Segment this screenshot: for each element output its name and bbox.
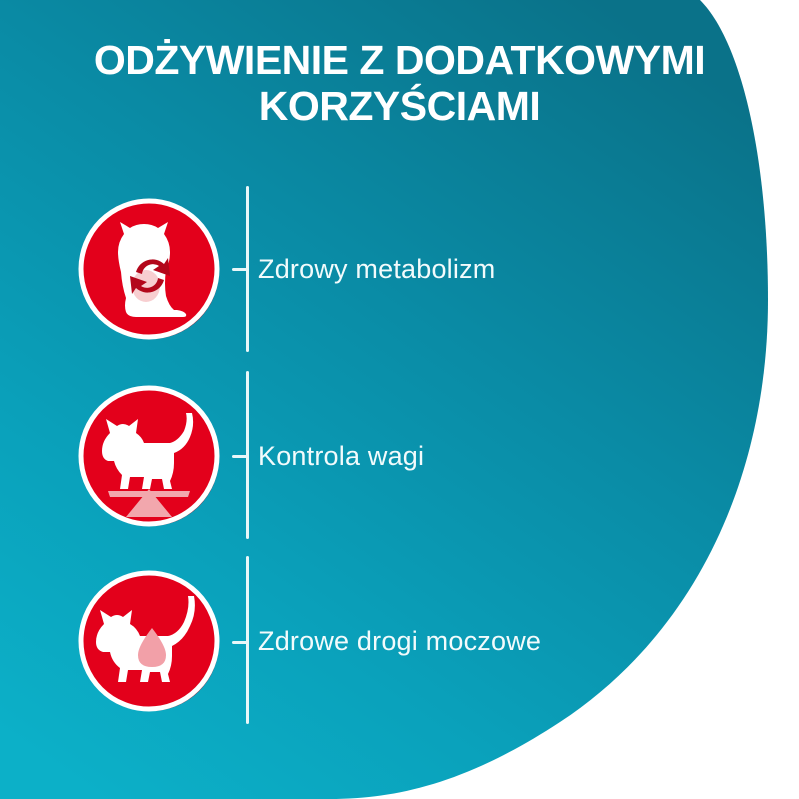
benefits-infographic: ODŻYWIENIE Z DODATKOWYMI KORZYŚCIAMI <box>0 0 799 799</box>
benefit-row-weight-control: Kontrola wagi <box>0 381 799 531</box>
cat-walking-balance-scale-icon <box>74 381 224 531</box>
benefit-label-healthy-metabolism: Zdrowy metabolizm <box>258 254 495 285</box>
benefit-row-healthy-urinary-tract: Zdrowe drogi moczowe <box>0 566 799 716</box>
page-title: ODŻYWIENIE Z DODATKOWYMI KORZYŚCIAMI <box>0 38 799 130</box>
benefit-label-weight-control: Kontrola wagi <box>258 441 424 472</box>
cat-sitting-metabolism-icon <box>74 194 224 344</box>
benefit-label-healthy-urinary-tract: Zdrowe drogi moczowe <box>258 626 541 657</box>
cat-walking-water-drop-icon <box>74 566 224 716</box>
benefit-row-healthy-metabolism: Zdrowy metabolizm <box>0 194 799 344</box>
